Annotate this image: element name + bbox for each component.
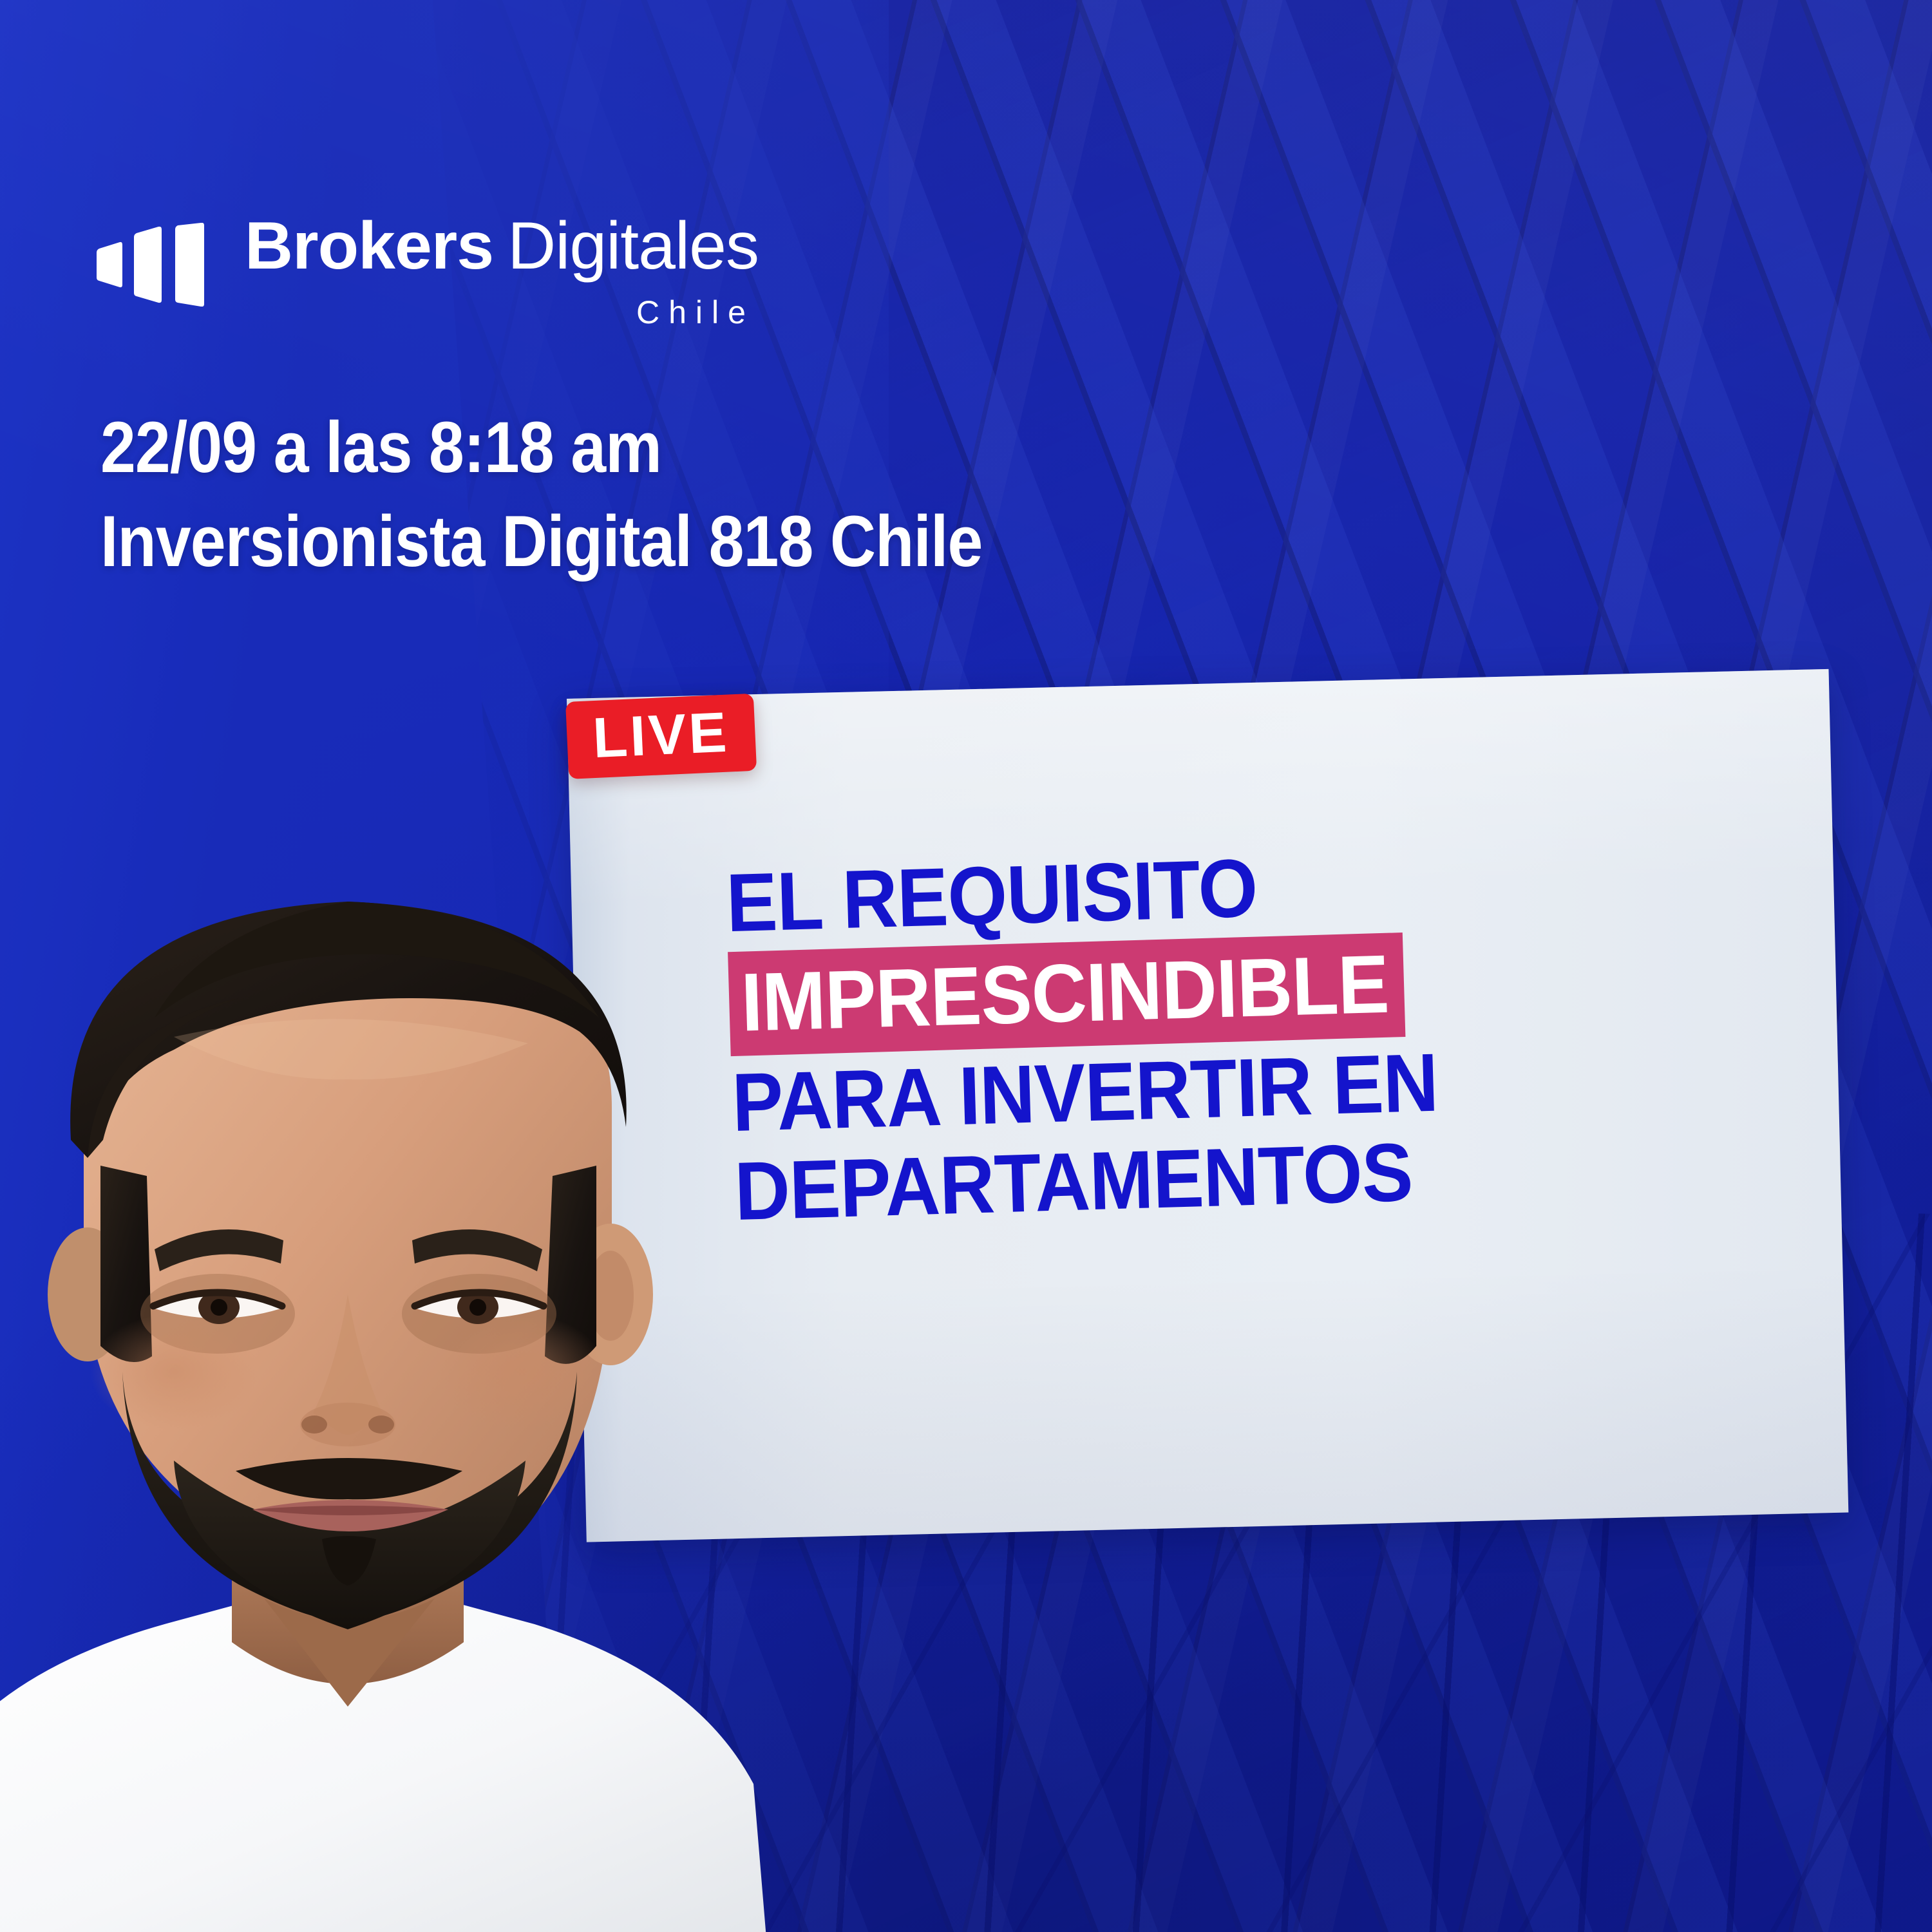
live-badge: LIVE [565, 694, 757, 779]
card-headline-block: EL REQUISITO IMPRESCINDIBLE PARA INVERTI… [725, 830, 1740, 1236]
card-headline-highlight: IMPRESCINDIBLE [728, 933, 1406, 1056]
presenter-portrait [0, 805, 811, 1932]
promo-graphic: Brokers Digitales Chile 22/09 a las 8:18… [0, 0, 1932, 1932]
